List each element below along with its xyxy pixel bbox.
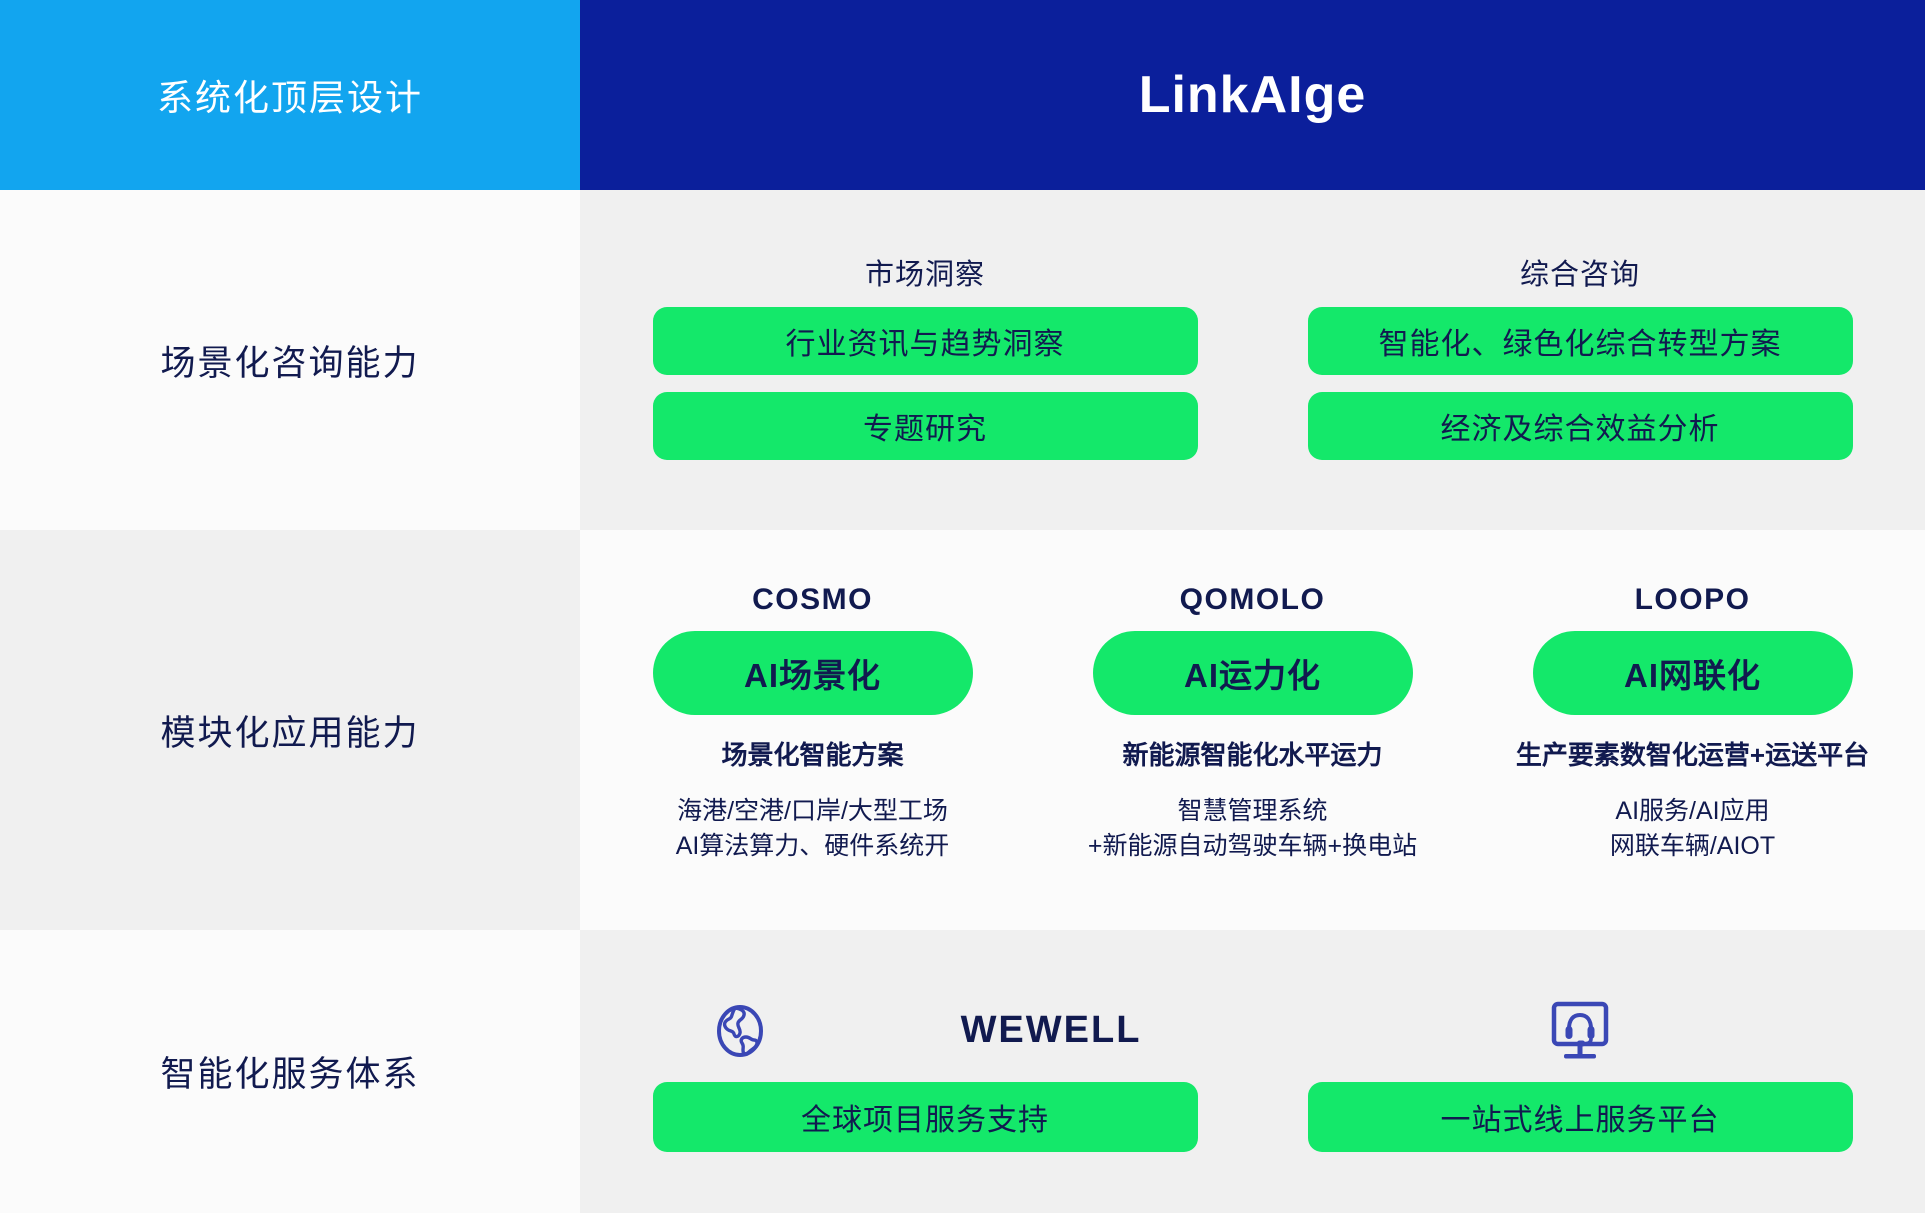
consulting-head-market: 市场洞察 xyxy=(865,251,985,293)
row-label-service-text: 智能化服务体系 xyxy=(160,1046,419,1097)
globe-icon xyxy=(709,1000,771,1062)
module-desc-loopo-line1: AI服务/AI应用 xyxy=(1610,794,1775,829)
module-subtitle-loopo: 生产要素数智化运营+运送平台 xyxy=(1516,735,1869,772)
module-desc-qomolo: 智慧管理系统 +新能源自动驾驶车辆+换电站 xyxy=(1088,794,1417,863)
module-name-qomolo: QOMOLO xyxy=(1180,583,1326,617)
row-content-service: WEWELL 全球项目服务支持 xyxy=(580,930,1925,1213)
module-subtitle-qomolo: 新能源智能化水平运力 xyxy=(1122,735,1382,772)
module-desc-loopo-line2: 网联车辆/AIOT xyxy=(1610,829,1775,864)
service-brand-wewell: WEWELL xyxy=(961,1009,1142,1052)
module-desc-qomolo-line2: +新能源自动驾驶车辆+换电站 xyxy=(1088,829,1417,864)
module-desc-loopo: AI服务/AI应用 网联车辆/AIOT xyxy=(1610,794,1775,863)
consulting-pill-benefit-analysis[interactable]: 经济及综合效益分析 xyxy=(1308,392,1853,460)
consulting-column-market: 市场洞察 行业资讯与趋势洞察 专题研究 xyxy=(653,251,1198,460)
module-desc-qomolo-line1: 智慧管理系统 xyxy=(1088,794,1417,829)
row-content-modules: COSMO AI场景化 场景化智能方案 海港/空港/口岸/大型工场 AI算法算力… xyxy=(580,530,1925,930)
service-pill-global-support[interactable]: 全球项目服务支持 xyxy=(653,1082,1198,1152)
module-pill-cosmo[interactable]: AI场景化 xyxy=(653,631,973,715)
module-name-loopo: LOOPO xyxy=(1635,583,1751,617)
row-label-modules: 模块化应用能力 xyxy=(0,530,580,930)
service-column-online: 一站式线上服务平台 xyxy=(1308,992,1853,1152)
module-subtitle-cosmo: 场景化智能方案 xyxy=(721,735,903,772)
service-column-global: WEWELL 全球项目服务支持 xyxy=(653,992,1198,1152)
header-left-label: 系统化顶层设计 xyxy=(157,69,423,121)
header-left-banner: 系统化顶层设计 xyxy=(0,0,580,190)
service-online-header xyxy=(1545,992,1615,1070)
brand-title: LinkAIge xyxy=(1139,65,1367,125)
module-desc-cosmo-line2: AI算法算力、硬件系统开 xyxy=(676,829,950,864)
module-column-qomolo: QOMOLO AI运力化 新能源智能化水平运力 智慧管理系统 +新能源自动驾驶车… xyxy=(1053,583,1453,863)
consulting-column-comprehensive: 综合咨询 智能化、绿色化综合转型方案 经济及综合效益分析 xyxy=(1308,251,1853,460)
module-desc-cosmo: 海港/空港/口岸/大型工场 AI算法算力、硬件系统开 xyxy=(676,794,950,863)
service-global-header: WEWELL xyxy=(709,992,1142,1070)
row-label-service: 智能化服务体系 xyxy=(0,930,580,1213)
row-label-consulting-text: 场景化咨询能力 xyxy=(160,335,419,386)
consulting-pill-industry-insight[interactable]: 行业资讯与趋势洞察 xyxy=(653,307,1198,375)
module-column-cosmo: COSMO AI场景化 场景化智能方案 海港/空港/口岸/大型工场 AI算法算力… xyxy=(613,583,1013,863)
module-pill-loopo[interactable]: AI网联化 xyxy=(1533,631,1853,715)
consulting-pill-transformation-plan[interactable]: 智能化、绿色化综合转型方案 xyxy=(1308,307,1853,375)
service-pill-online-platform[interactable]: 一站式线上服务平台 xyxy=(1308,1082,1853,1152)
row-label-consulting: 场景化咨询能力 xyxy=(0,190,580,530)
consulting-pill-thematic-research[interactable]: 专题研究 xyxy=(653,392,1198,460)
row-content-consulting: 市场洞察 行业资讯与趋势洞察 专题研究 综合咨询 智能化、绿色化综合转型方案 经… xyxy=(580,190,1925,530)
header-right-banner: LinkAIge xyxy=(580,0,1925,190)
module-desc-cosmo-line1: 海港/空港/口岸/大型工场 xyxy=(676,794,950,829)
row-label-modules-text: 模块化应用能力 xyxy=(160,705,419,756)
monitor-headset-icon xyxy=(1545,998,1615,1064)
capability-framework-diagram: 系统化顶层设计 LinkAIge 场景化咨询能力 市场洞察 行业资讯与趋势洞察 … xyxy=(0,0,1925,1213)
consulting-head-comprehensive: 综合咨询 xyxy=(1520,251,1640,293)
module-column-loopo: LOOPO AI网联化 生产要素数智化运营+运送平台 AI服务/AI应用 网联车… xyxy=(1493,583,1893,863)
module-name-cosmo: COSMO xyxy=(752,583,873,617)
module-pill-qomolo[interactable]: AI运力化 xyxy=(1093,631,1413,715)
